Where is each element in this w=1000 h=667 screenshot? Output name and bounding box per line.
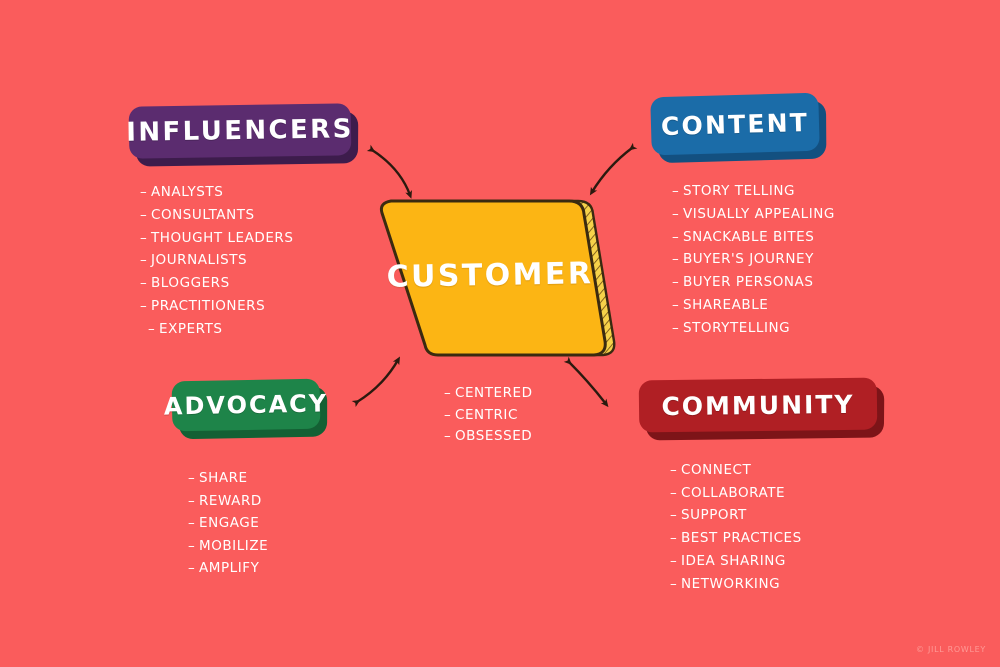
list-item-label: BUYER PERSONAS xyxy=(683,274,813,290)
list-item: –MOBILIZE xyxy=(188,535,268,558)
list-item: –ENGAGE xyxy=(188,512,268,535)
bullet-dash: – xyxy=(672,180,683,203)
bullet-dash: – xyxy=(188,557,199,580)
bullet-dash: – xyxy=(140,204,151,227)
bullet-list-influencers: –ANALYSTS –CONSULTANTS –THOUGHT LEADERS … xyxy=(140,181,293,341)
list-item-label: CENTRIC xyxy=(455,407,518,423)
list-item: –IDEA SHARING xyxy=(670,550,802,573)
list-item-label: ENGAGE xyxy=(199,515,259,531)
bullet-dash: – xyxy=(670,482,681,505)
bullet-dash: – xyxy=(670,550,681,573)
list-item: –AMPLIFY xyxy=(188,557,268,580)
list-item: –STORY TELLING xyxy=(672,180,835,203)
list-item: –BUYER'S JOURNEY xyxy=(672,248,835,271)
bullet-dash: – xyxy=(672,271,683,294)
bullet-list-advocacy: –SHARE –REWARD –ENGAGE –MOBILIZE –AMPLIF… xyxy=(188,467,268,580)
infographic-canvas: CUSTOMER INFLUENCERS CONTENT ADVOCACY CO… xyxy=(0,0,1000,667)
bullet-dash: – xyxy=(140,227,151,250)
list-item: –CENTRIC xyxy=(444,405,533,427)
category-box-content[interactable]: CONTENT xyxy=(650,93,820,156)
list-item: –BUYER PERSONAS xyxy=(672,271,835,294)
bullet-dash: – xyxy=(672,294,683,317)
bullet-list-community: –CONNECT –COLLABORATE –SUPPORT –BEST PRA… xyxy=(670,459,802,595)
list-item: –PRACTITIONERS xyxy=(140,295,293,318)
list-item-label: SHAREABLE xyxy=(683,297,768,313)
list-item: –BLOGGERS xyxy=(140,272,293,295)
bullet-dash: – xyxy=(140,295,151,318)
list-item-label: PRACTITIONERS xyxy=(151,298,265,314)
list-item-label: ANALYSTS xyxy=(151,184,223,200)
list-item: –BEST PRACTICES xyxy=(670,527,802,550)
list-item: –JOURNALISTS xyxy=(140,249,293,272)
list-item-label: MOBILIZE xyxy=(199,538,268,554)
list-item-label: BLOGGERS xyxy=(151,275,230,291)
list-item: –THOUGHT LEADERS xyxy=(140,227,293,250)
list-item: –SUPPORT xyxy=(670,504,802,527)
bullet-dash: – xyxy=(188,490,199,513)
list-item: –CONSULTANTS xyxy=(140,204,293,227)
bullet-dash: – xyxy=(140,181,151,204)
bullet-dash: – xyxy=(140,249,151,272)
list-item: –VISUALLY APPEALING xyxy=(672,203,835,226)
list-item: –CENTERED xyxy=(444,383,533,405)
credit-text: © JILL ROWLEY xyxy=(916,645,986,654)
bullet-dash: – xyxy=(672,248,683,271)
category-box-advocacy[interactable]: ADVOCACY xyxy=(172,379,321,432)
list-item-label: CONNECT xyxy=(681,462,751,478)
list-item-label: STORY TELLING xyxy=(683,183,795,199)
list-item: –OBSESSED xyxy=(444,426,533,448)
list-item: –SHAREABLE xyxy=(672,294,835,317)
arrow-content xyxy=(592,148,632,192)
customer-shape xyxy=(381,201,614,355)
bullet-dash: – xyxy=(672,203,683,226)
list-item: –SHARE xyxy=(188,467,268,490)
category-box-community[interactable]: COMMUNITY xyxy=(639,378,878,433)
list-item-label: COLLABORATE xyxy=(681,485,785,501)
list-item-label: BUYER'S JOURNEY xyxy=(683,251,814,267)
bullet-dash: – xyxy=(670,504,681,527)
bullet-dash: – xyxy=(140,272,151,295)
list-item-label: JOURNALISTS xyxy=(151,252,247,268)
bullet-dash: – xyxy=(188,512,199,535)
bullet-dash: – xyxy=(670,527,681,550)
list-item: –SNACKABLE BITES xyxy=(672,226,835,249)
list-item-label: NETWORKING xyxy=(681,576,780,592)
bullet-dash: – xyxy=(672,226,683,249)
bullet-list-content: –STORY TELLING –VISUALLY APPEALING –SNAC… xyxy=(672,180,835,340)
list-item-label: IDEA SHARING xyxy=(681,553,786,569)
list-item: –EXPERTS xyxy=(140,318,293,341)
category-box-influencers[interactable]: INFLUENCERS xyxy=(129,103,352,158)
bullet-dash: – xyxy=(188,467,199,490)
bullet-dash: – xyxy=(444,405,455,427)
list-item: –COLLABORATE xyxy=(670,482,802,505)
list-item-label: EXPERTS xyxy=(159,321,223,337)
list-item-label: SHARE xyxy=(199,470,248,486)
list-item-label: VISUALLY APPEALING xyxy=(683,206,835,222)
list-item-label: OBSESSED xyxy=(455,428,532,444)
bullet-dash: – xyxy=(188,535,199,558)
list-item-label: BEST PRACTICES xyxy=(681,530,802,546)
category-label-community: COMMUNITY xyxy=(661,389,854,420)
list-item: –STORYTELLING xyxy=(672,317,835,340)
list-item: –REWARD xyxy=(188,490,268,513)
list-item-label: THOUGHT LEADERS xyxy=(151,230,293,246)
bullet-list-customer: –CENTERED –CENTRIC –OBSESSED xyxy=(444,383,533,448)
bullet-dash: – xyxy=(148,318,159,341)
list-item: –CONNECT xyxy=(670,459,802,482)
list-item: –NETWORKING xyxy=(670,573,802,596)
bullet-dash: – xyxy=(672,317,683,340)
arrow-community xyxy=(569,362,606,404)
bullet-dash: – xyxy=(670,573,681,596)
arrow-advocacy xyxy=(357,360,398,402)
list-item: –ANALYSTS xyxy=(140,181,293,204)
list-item-label: CONSULTANTS xyxy=(151,207,255,223)
list-item-label: REWARD xyxy=(199,493,262,509)
list-item-label: AMPLIFY xyxy=(199,560,259,576)
list-item-label: STORYTELLING xyxy=(683,320,790,336)
bullet-dash: – xyxy=(444,383,455,405)
category-label-content: CONTENT xyxy=(661,107,810,140)
list-item-label: SNACKABLE BITES xyxy=(683,229,814,245)
category-label-influencers: INFLUENCERS xyxy=(126,114,354,148)
bullet-dash: – xyxy=(444,426,455,448)
category-label-advocacy: ADVOCACY xyxy=(164,389,329,420)
list-item-label: SUPPORT xyxy=(681,507,747,523)
list-item-label: CENTERED xyxy=(455,385,533,401)
bullet-dash: – xyxy=(670,459,681,482)
arrow-influencers xyxy=(372,150,410,195)
